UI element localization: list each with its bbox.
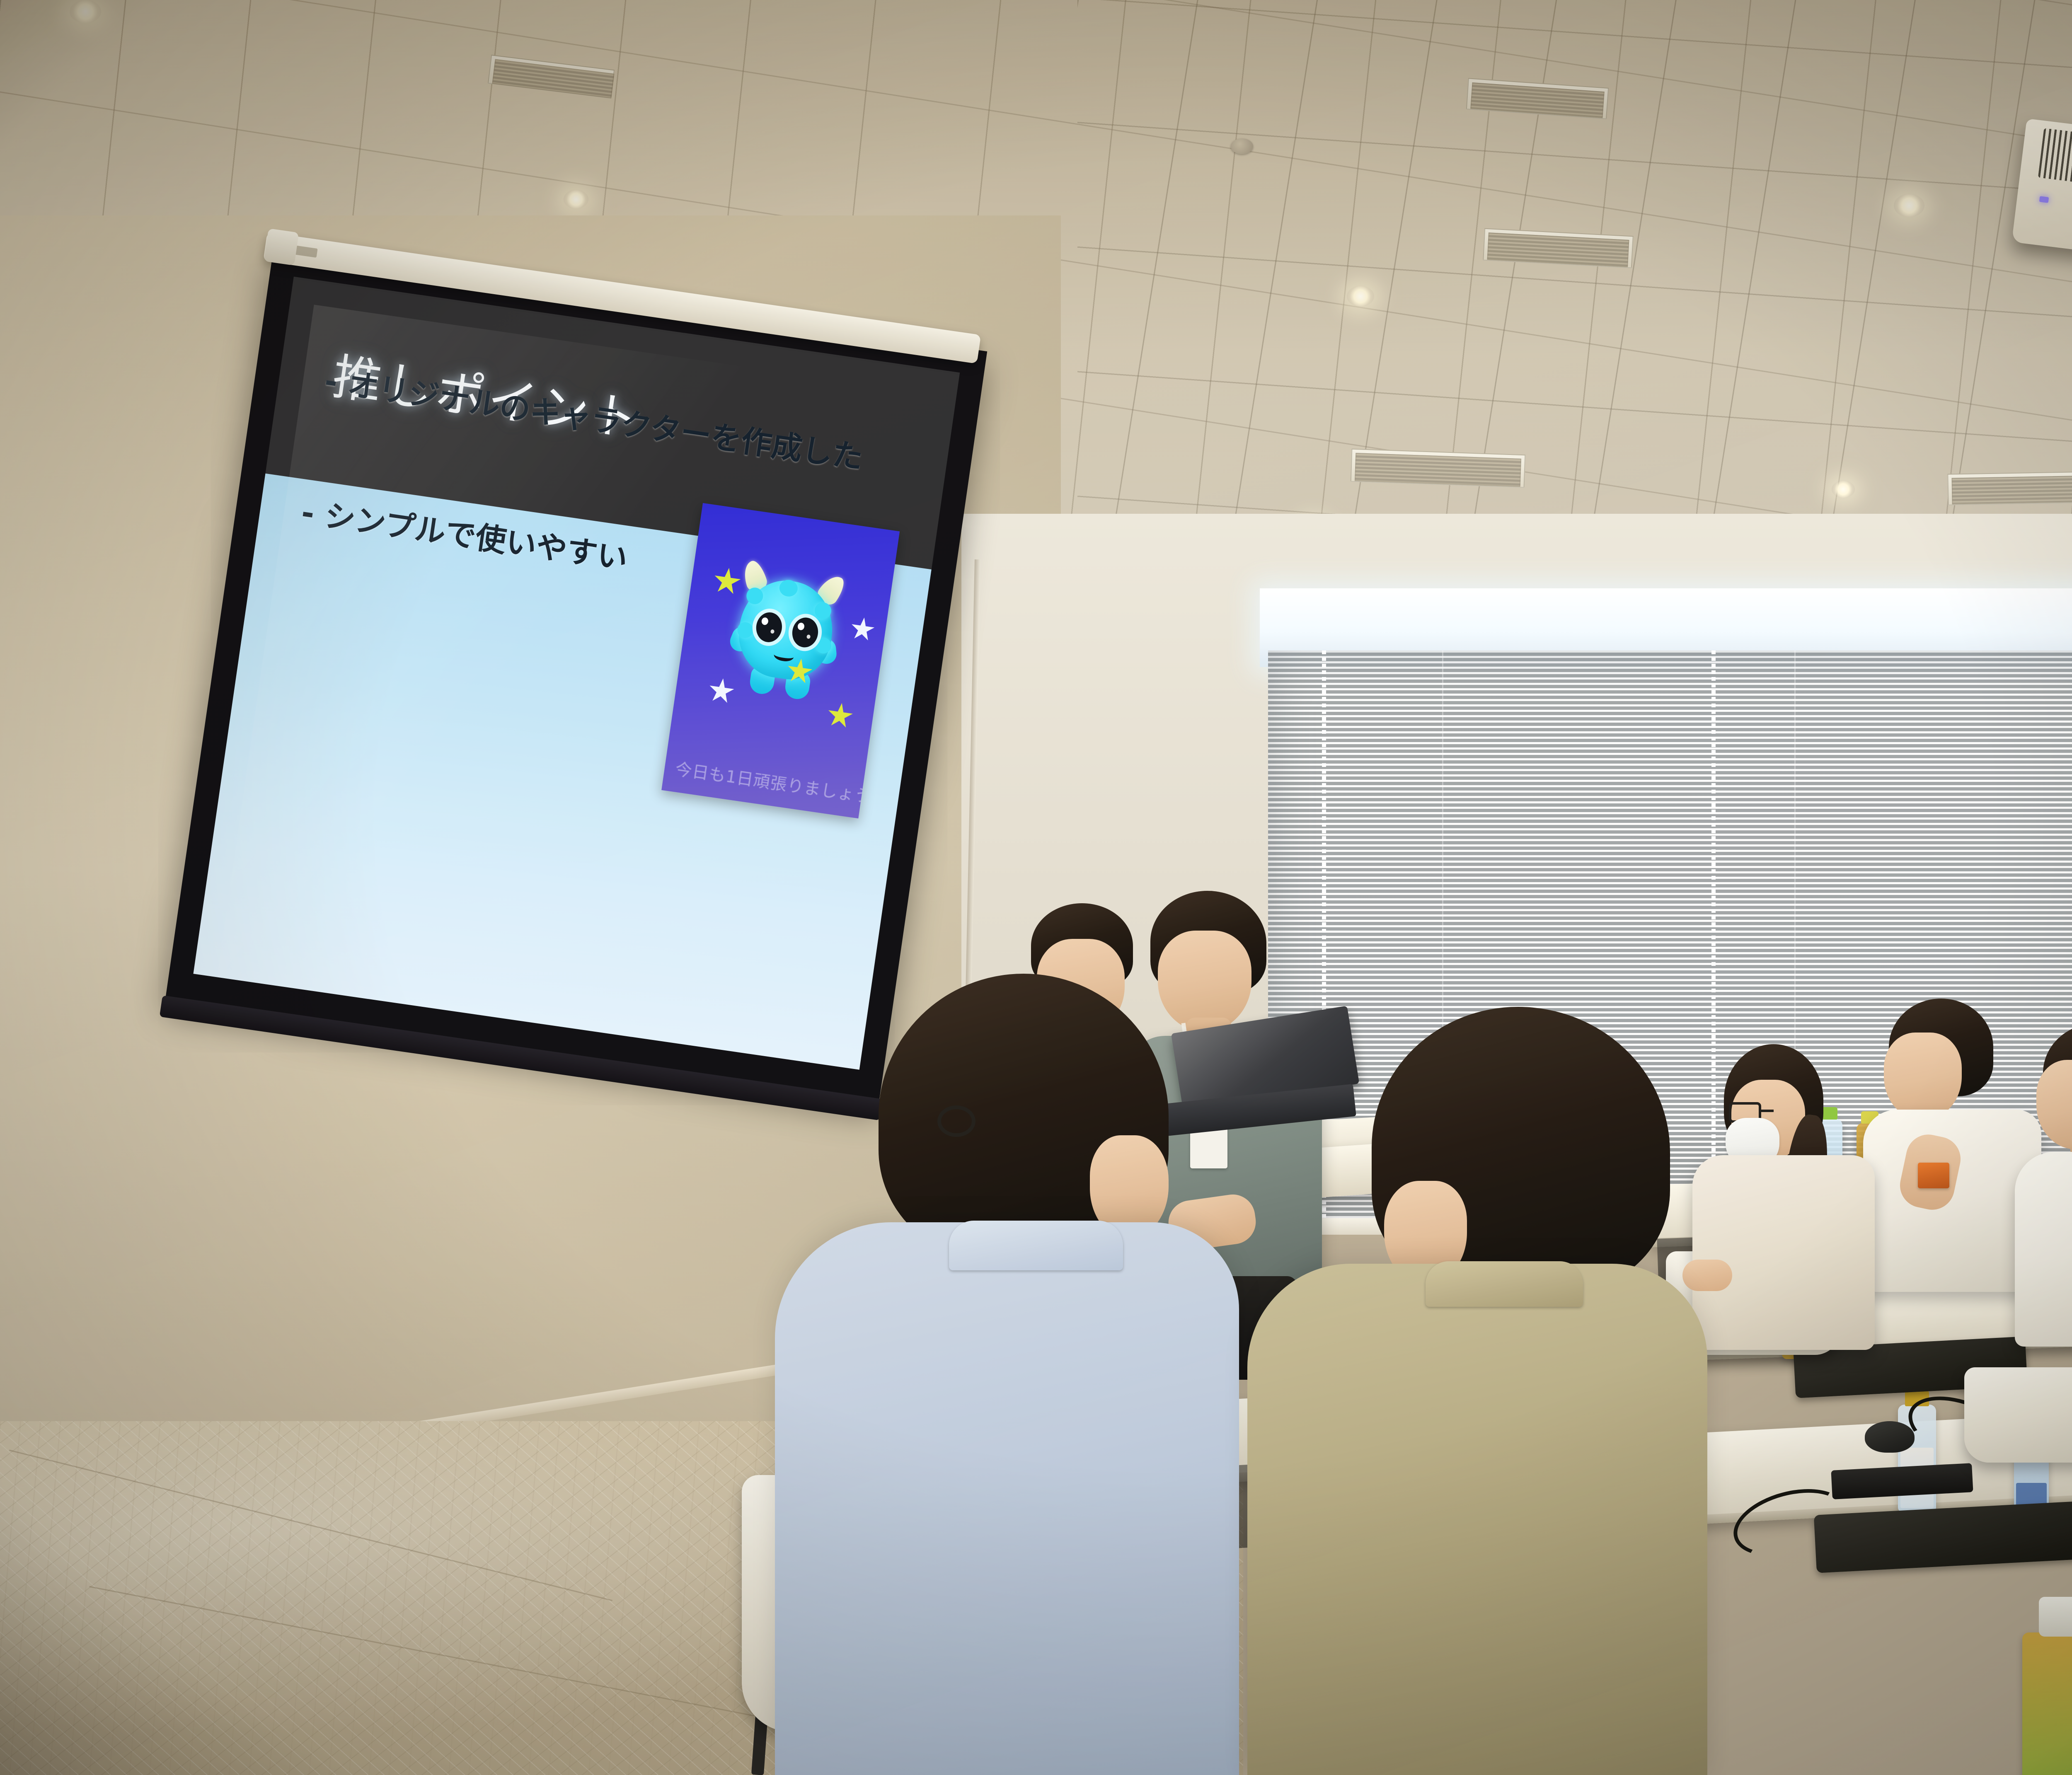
mascot-character (721, 555, 850, 702)
person-audience-back (1993, 1023, 2072, 1338)
person-audience-olive (1247, 1007, 1707, 1775)
glasses-temple-arm (937, 1105, 975, 1137)
mascot-pupil-left-small (770, 629, 775, 634)
mascot-pupil-left (761, 617, 769, 625)
projector-status-led (2039, 196, 2049, 203)
collar (1426, 1261, 1583, 1307)
star-yellow-bottomright (825, 701, 854, 730)
smartwatch (1918, 1163, 1949, 1188)
collar (949, 1221, 1123, 1270)
person-audience-blue (775, 974, 1239, 1775)
torso (2015, 1152, 2072, 1347)
mascot-pupil-right-small (806, 634, 811, 639)
torso (1692, 1155, 1875, 1350)
torso (775, 1222, 1239, 1775)
face (2036, 1060, 2072, 1149)
screen-housing-end-cap (264, 228, 299, 266)
star-white-right (849, 616, 876, 643)
torso (1247, 1264, 1707, 1775)
presentation-slide: 推しポイント - オリジナルのキャラクターを作成した - シンプルで使いやすい (193, 277, 960, 1070)
conference-room-photo: NEC 推しポイント - オリジナルのキャラクターを作成した (0, 0, 2072, 1775)
person-audience-masked (1682, 1044, 1898, 1359)
chair-back-row-3[interactable] (1964, 1367, 2072, 1463)
mascot-pupil-right (797, 622, 805, 631)
bottle-foreground-tea[interactable] (2022, 1632, 2072, 1775)
computer-mouse-2[interactable] (1865, 1421, 1915, 1453)
character-card: 今日も1日頑張りましょう (661, 503, 900, 818)
bottle-cap (2039, 1597, 2072, 1637)
glasses-bridge (1761, 1110, 1774, 1112)
